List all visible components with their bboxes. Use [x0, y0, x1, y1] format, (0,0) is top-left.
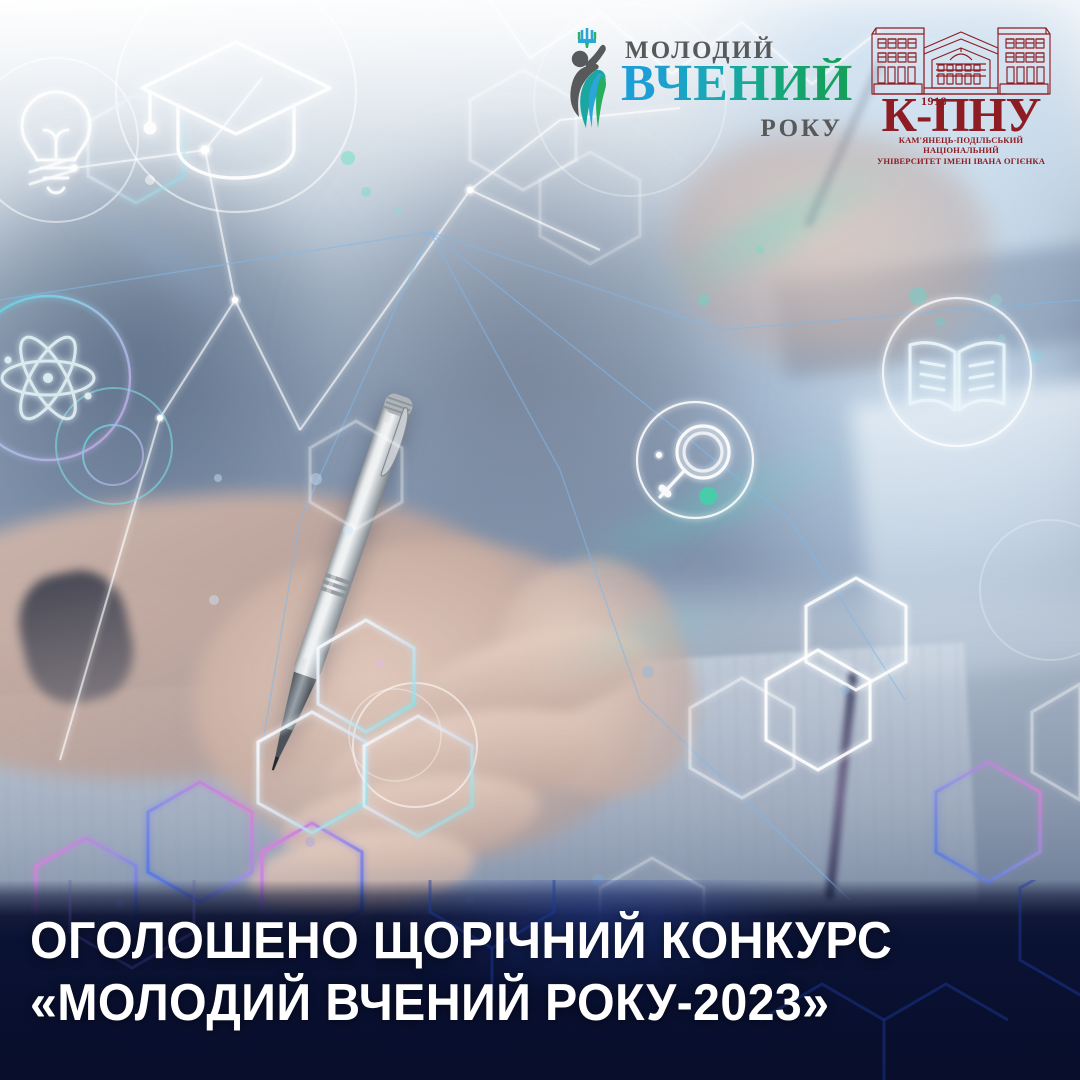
university-abbreviation: К-ПНУ	[866, 90, 1056, 139]
logo-line-roku: РОКУ	[760, 116, 843, 141]
banner-line-1: ОГОЛОШЕНО ЩОРІЧНИЙ КОНКУРС	[30, 910, 960, 972]
poster-root: МОЛОДИЙ ВЧЕНИЙ РОКУ	[0, 0, 1080, 1080]
banner-headline: ОГОЛОШЕНО ЩОРІЧНИЙ КОНКУРС «МОЛОДИЙ ВЧЕН…	[30, 910, 960, 1034]
university-logo[interactable]: К-ПНУ 1918 КАМ'ЯНЕЦЬ-ПОДІЛЬСЬКИЙ НАЦІОНА…	[866, 8, 1056, 156]
logo-line-vcheniy: ВЧЕНИЙ	[621, 58, 853, 110]
university-full-name: КАМ'ЯНЕЦЬ-ПОДІЛЬСЬКИЙ НАЦІОНАЛЬНИЙ УНІВЕ…	[863, 135, 1059, 166]
banner-line-2: «МОЛОДИЙ ВЧЕНИЙ РОКУ-2023»	[30, 972, 960, 1034]
young-scientist-wordmark: МОЛОДИЙ ВЧЕНИЙ РОКУ	[619, 18, 845, 146]
university-founded-year: 1918	[921, 94, 947, 109]
university-building-icon	[866, 8, 1056, 96]
header: МОЛОДИЙ ВЧЕНИЙ РОКУ	[0, 0, 1080, 175]
announcement-banner: ОГОЛОШЕНО ЩОРІЧНИЙ КОНКУРС «МОЛОДИЙ ВЧЕН…	[0, 880, 1080, 1080]
young-scientist-logo[interactable]: МОЛОДИЙ ВЧЕНИЙ РОКУ	[565, 18, 845, 148]
human-figure-with-trident-icon	[565, 26, 619, 130]
